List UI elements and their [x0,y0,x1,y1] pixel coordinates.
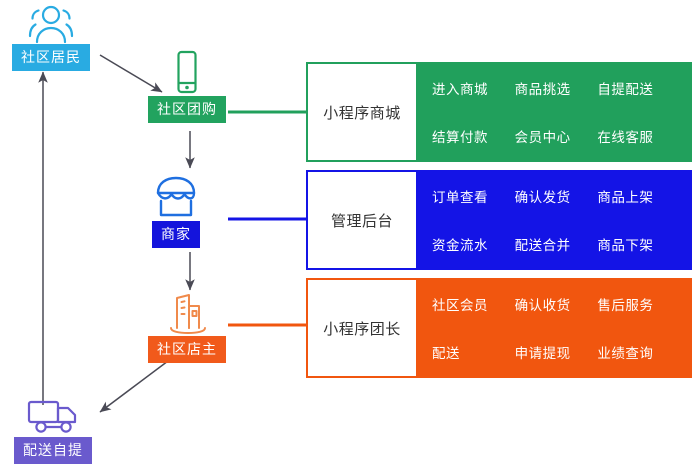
node-residents-label: 社区居民 [12,44,90,71]
node-group-buy-label: 社区团购 [148,96,226,123]
panel-admin-label: 管理后台 [308,172,418,268]
panel-item[interactable]: 配送合并 [515,234,598,254]
panel-item[interactable]: 确认发货 [515,186,598,206]
panel-item[interactable]: 商品上架 [597,186,680,206]
panel-item[interactable]: 确认收货 [515,294,598,314]
panel-item[interactable]: 商品下架 [597,234,680,254]
node-shop-owner-label: 社区店主 [148,336,226,363]
panel-mall-items: 进入商城 商品挑选 自提配送 结算付款 会员中心 在线客服 [418,64,690,160]
diagram-canvas: 社区居民 社区团购 商家 [0,0,700,470]
panel-item[interactable]: 配送 [432,342,515,362]
panel-mall[interactable]: 小程序商城 进入商城 商品挑选 自提配送 结算付款 会员中心 在线客服 [306,62,692,162]
panel-item[interactable]: 社区会员 [432,294,515,314]
mobile-phone-icon [167,50,207,96]
delivery-truck-icon [22,395,84,437]
buildings-icon [159,290,215,336]
panel-leader-label: 小程序团长 [308,280,418,376]
panel-admin-items: 订单查看 确认发货 商品上架 资金流水 配送合并 商品下架 [418,172,690,268]
panel-item[interactable]: 在线客服 [597,126,680,146]
panel-item[interactable]: 自提配送 [597,78,680,98]
panel-leader[interactable]: 小程序团长 社区会员 确认收货 售后服务 配送 申请提现 业绩查询 [306,278,692,378]
connector-shopowner-to-delivery [100,358,172,412]
node-delivery[interactable]: 配送自提 [14,395,92,464]
people-group-icon [20,2,82,44]
panel-item[interactable]: 会员中心 [515,126,598,146]
panel-item[interactable]: 订单查看 [432,186,515,206]
panel-item[interactable]: 进入商城 [432,78,515,98]
node-shop-owner[interactable]: 社区店主 [148,290,226,363]
node-merchant-label: 商家 [152,221,200,248]
panel-mall-label: 小程序商城 [308,64,418,160]
panel-item[interactable]: 申请提现 [515,342,598,362]
node-merchant[interactable]: 商家 [148,175,204,248]
node-group-buy[interactable]: 社区团购 [148,50,226,123]
panel-admin[interactable]: 管理后台 订单查看 确认发货 商品上架 资金流水 配送合并 商品下架 [306,170,692,270]
node-delivery-label: 配送自提 [14,437,92,464]
panel-item[interactable]: 业绩查询 [597,342,680,362]
panel-item[interactable]: 结算付款 [432,126,515,146]
panel-item[interactable]: 商品挑选 [515,78,598,98]
panel-item[interactable]: 售后服务 [597,294,680,314]
storefront-icon [148,175,204,221]
panel-item[interactable]: 资金流水 [432,234,515,254]
node-residents[interactable]: 社区居民 [12,2,90,71]
panel-leader-items: 社区会员 确认收货 售后服务 配送 申请提现 业绩查询 [418,280,690,376]
